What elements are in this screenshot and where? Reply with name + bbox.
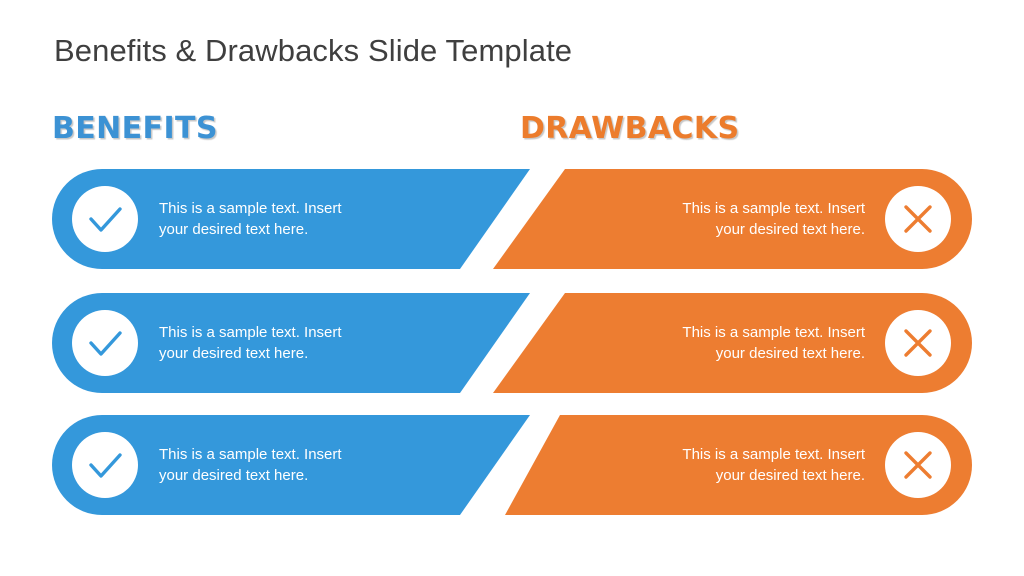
drawback-text: This is a sample text. Insert your desir… (600, 444, 865, 486)
benefit-drawback-row: This is a sample text. Insert your desir… (0, 293, 1024, 393)
benefit-drawback-row: This is a sample text. Insert your desir… (0, 169, 1024, 269)
column-heading-benefits: BENEFITS (52, 111, 218, 146)
column-heading-drawbacks: DRAWBACKS (520, 111, 740, 146)
benefit-text: This is a sample text. Insert your desir… (159, 198, 409, 240)
check-icon-circle (72, 186, 138, 252)
page-title: Benefits & Drawbacks Slide Template (54, 33, 572, 69)
drawback-text: This is a sample text. Insert your desir… (600, 198, 865, 240)
slide-canvas: Benefits & Drawbacks Slide Template BENE… (0, 0, 1024, 576)
benefit-text: This is a sample text. Insert your desir… (159, 444, 409, 486)
benefit-text: This is a sample text. Insert your desir… (159, 322, 409, 364)
drawback-text: This is a sample text. Insert your desir… (600, 322, 865, 364)
benefit-drawback-row: This is a sample text. Insert your desir… (0, 415, 1024, 515)
check-icon-circle (72, 310, 138, 376)
check-icon-circle (72, 432, 138, 498)
